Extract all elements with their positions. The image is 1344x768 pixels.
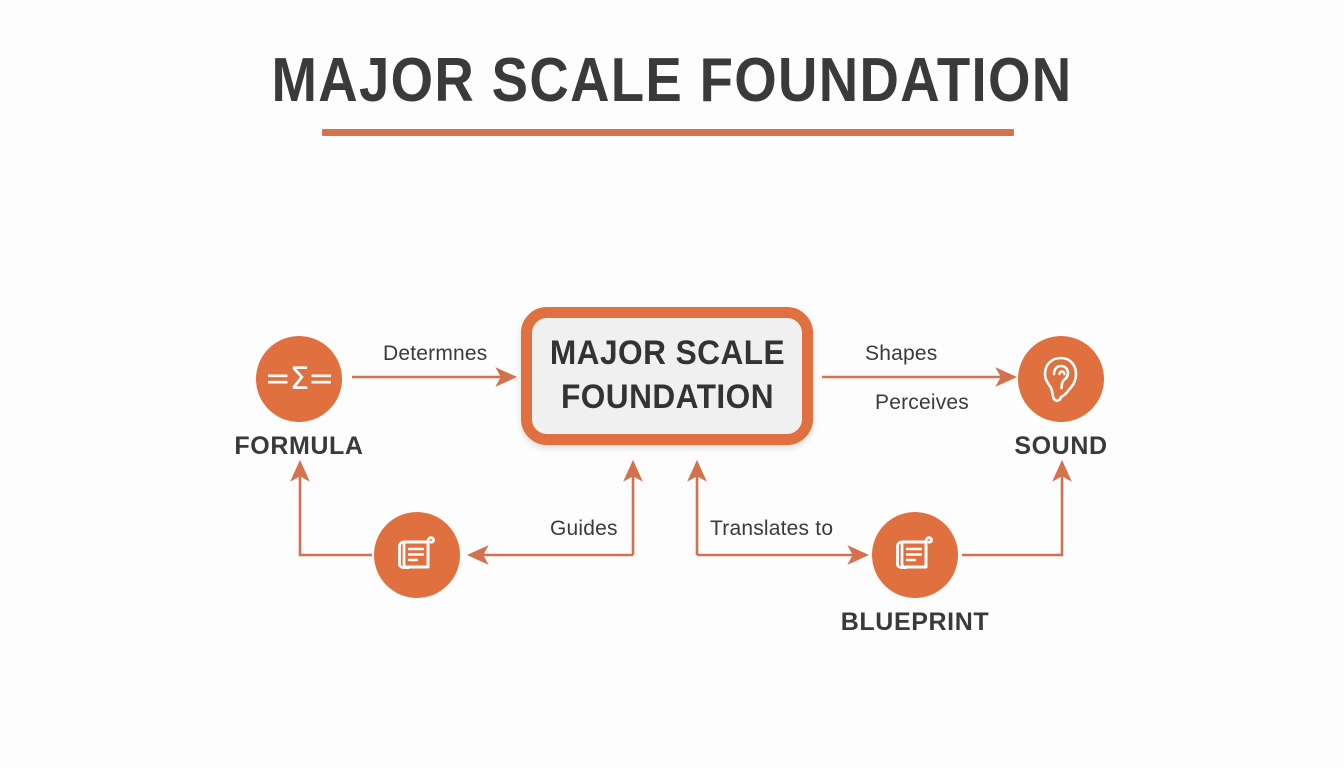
central-node[interactable]: MAJOR SCALE FOUNDATION [521, 307, 813, 445]
diagram-canvas: MAJOR SCALE FOUNDATION Determnes Shapes … [0, 0, 1344, 768]
node-blueprint[interactable]: BLUEPRINT [872, 512, 958, 598]
node-blueprint-circle [872, 512, 958, 598]
node-formula-label: FORMULA [234, 432, 363, 461]
edge-blueprint-to-sound [962, 463, 1062, 555]
edge-scroll-to-formula [300, 463, 372, 555]
sigma-formula-icon: =Σ= [265, 364, 334, 395]
node-sound-circle [1018, 336, 1104, 422]
scroll-document-icon [890, 530, 940, 580]
edge-label-translates: Translates to [710, 517, 833, 541]
edge-label-guides: Guides [550, 517, 618, 541]
node-formula[interactable]: =Σ= FORMULA [256, 336, 342, 422]
edge-label-shapes: Shapes [865, 342, 937, 366]
edge-label-perceives: Perceives [875, 391, 969, 415]
node-sound-label: SOUND [1014, 432, 1107, 461]
node-blueprint-label: BLUEPRINT [841, 608, 989, 637]
ear-icon [1038, 354, 1084, 404]
node-scroll[interactable] [374, 512, 460, 598]
scroll-document-icon [392, 530, 442, 580]
edge-label-determines: Determnes [383, 342, 488, 366]
node-scroll-circle [374, 512, 460, 598]
central-node-label: MAJOR SCALE FOUNDATION [549, 332, 784, 419]
node-sound[interactable]: SOUND [1018, 336, 1104, 422]
node-formula-circle: =Σ= [256, 336, 342, 422]
